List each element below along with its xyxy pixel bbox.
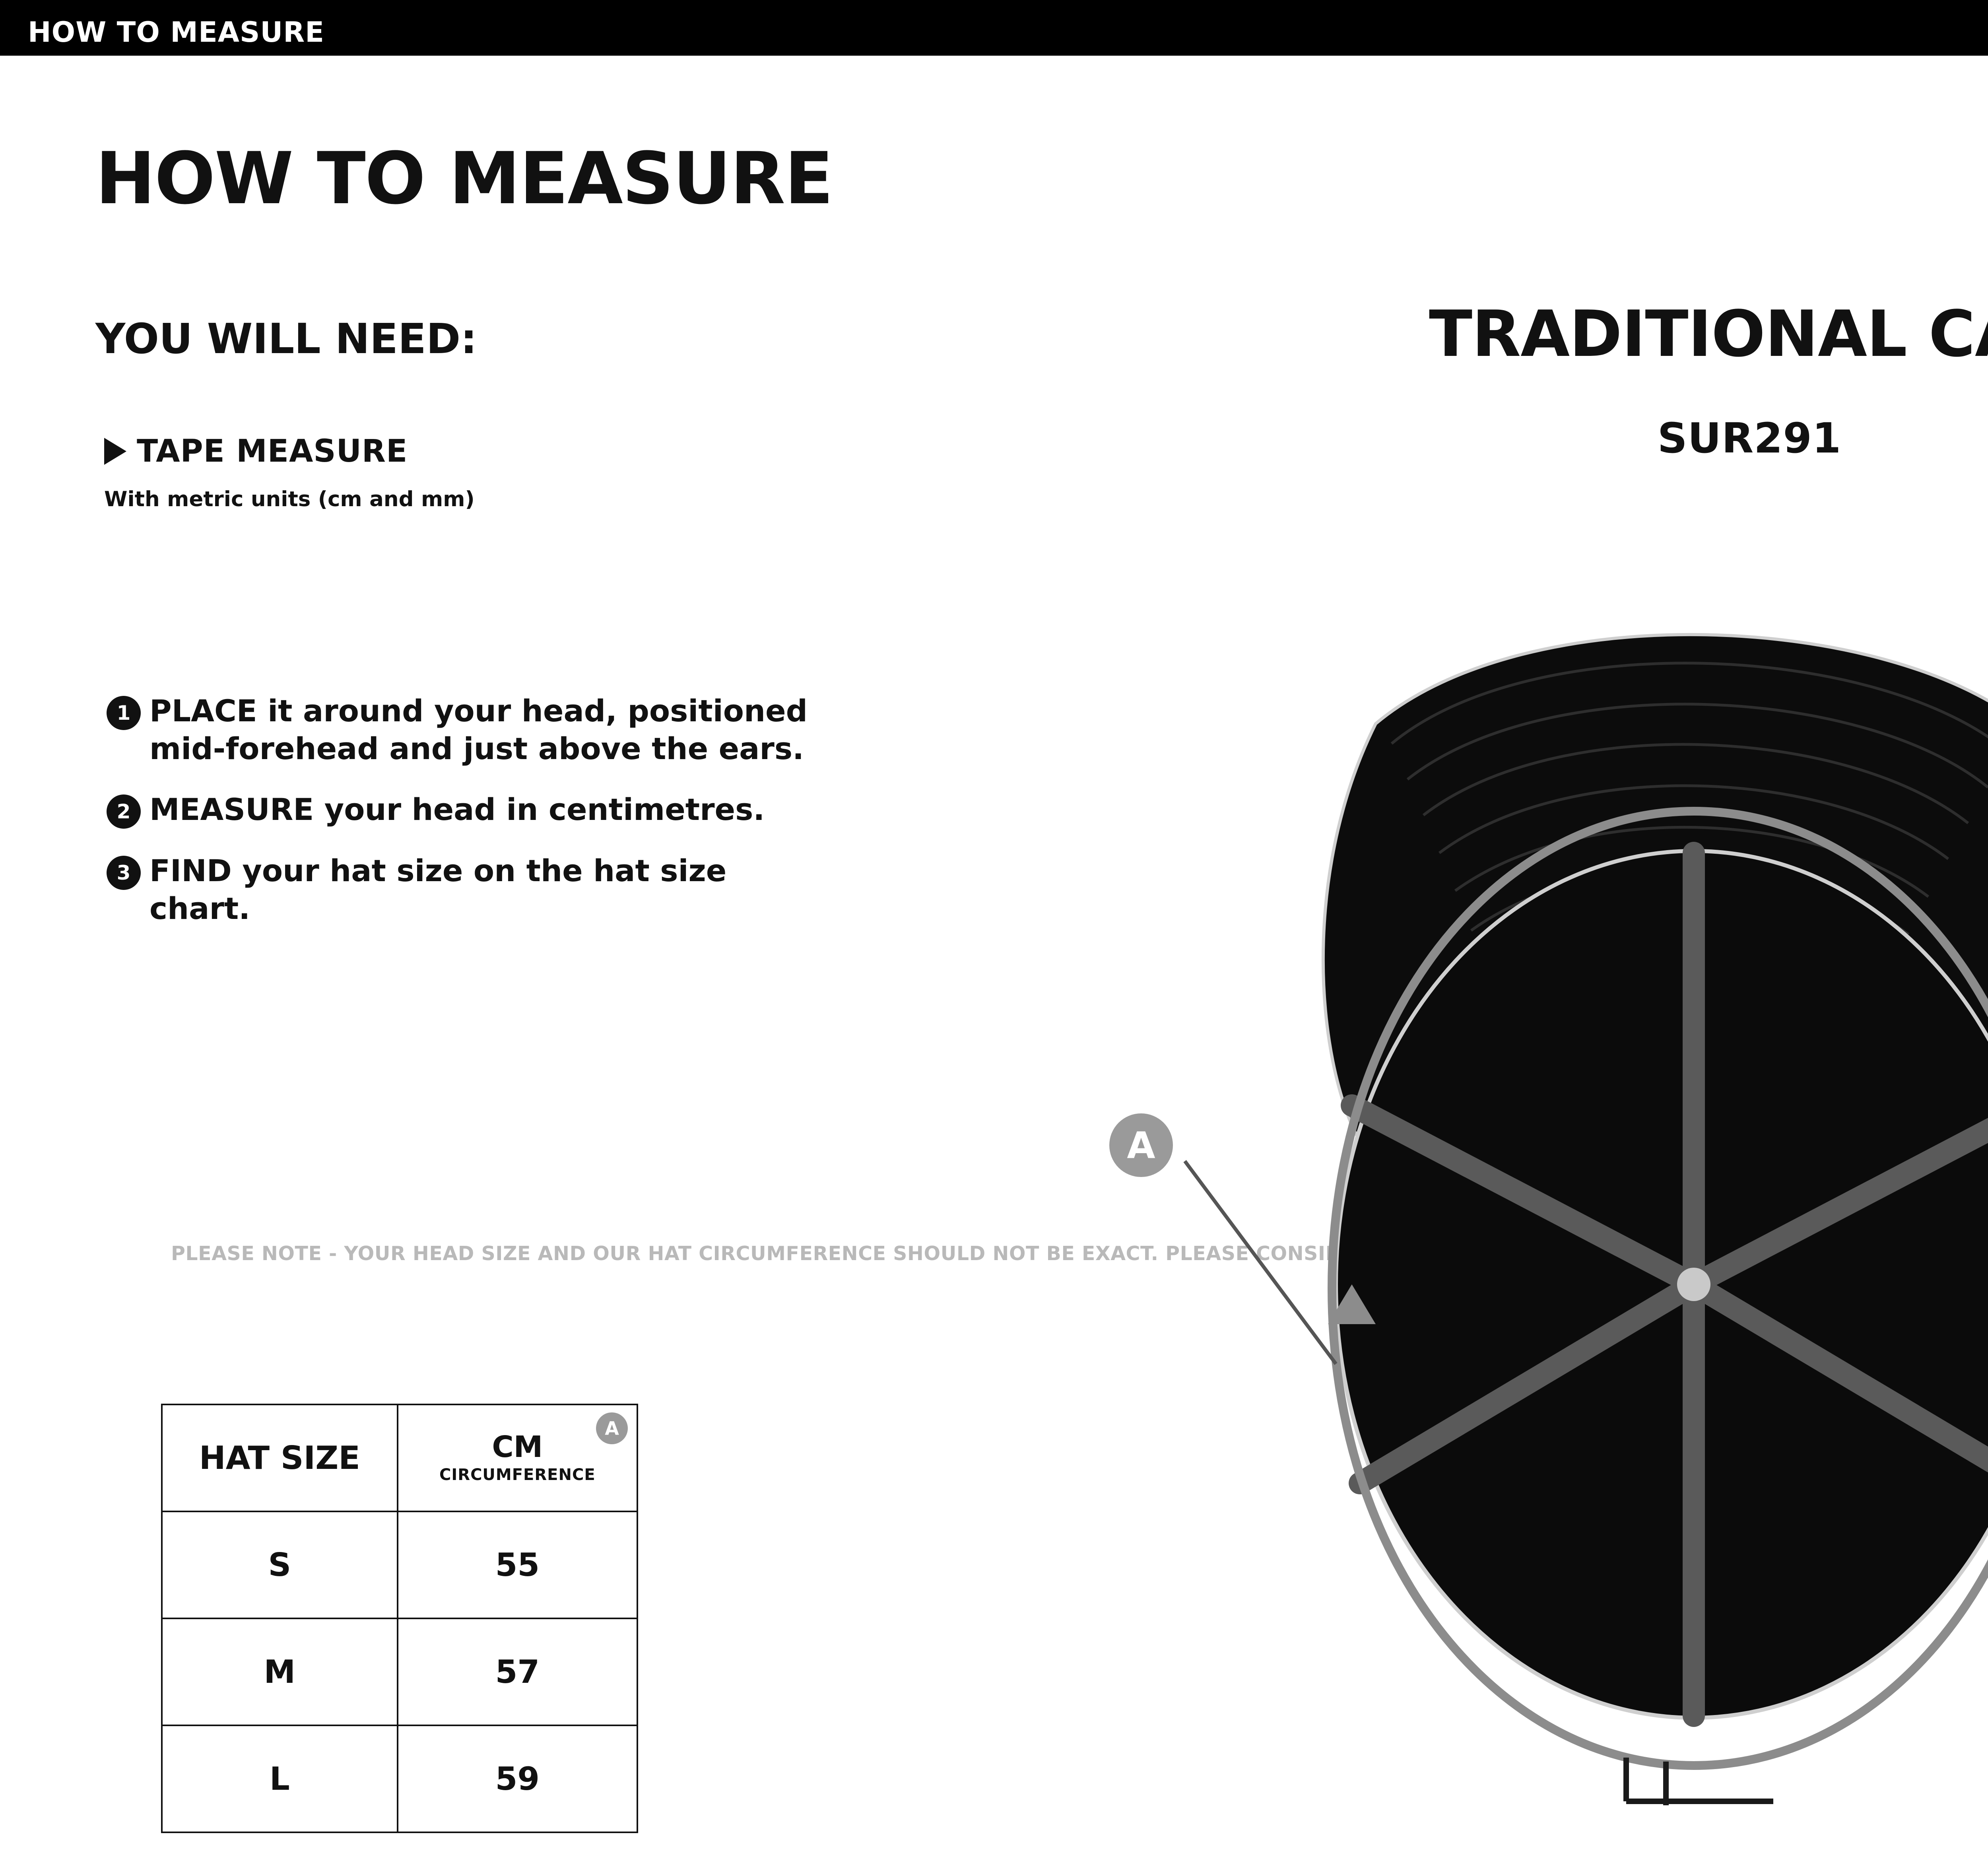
step-lead: FIND xyxy=(149,853,232,888)
cap-diagram-svg xyxy=(1074,557,1988,1849)
top-bar-title: HOW TO MEASURE xyxy=(28,16,324,49)
list-item: 1 PLACE it around your head, positioned … xyxy=(107,692,862,767)
cell-cm: 57 xyxy=(398,1618,637,1725)
table-header-cm: CM CIRCUMFERENCE A xyxy=(398,1404,637,1511)
step-lead: PLACE xyxy=(149,693,257,728)
tape-measure-sublabel: With metric units (cm and mm) xyxy=(104,487,475,511)
top-bar: HOW TO MEASURE SS SURRIDGE xyxy=(0,0,1988,56)
tape-measure-label: TAPE MEASURE xyxy=(137,433,408,469)
measurement-badge-a: A xyxy=(596,1412,628,1444)
step-number-badge: 3 xyxy=(107,856,141,890)
step-text: PLACE it around your head, positioned mi… xyxy=(149,692,833,767)
step-body: your head in centimetres. xyxy=(314,792,765,827)
table-header-row: HAT SIZE CM CIRCUMFERENCE A xyxy=(162,1404,637,1511)
steps-list: 1 PLACE it around your head, positioned … xyxy=(107,692,862,950)
cell-hat-size: M xyxy=(162,1618,398,1725)
tape-measure-row: TAPE MEASURE xyxy=(104,433,408,469)
cell-hat-size: S xyxy=(162,1511,398,1618)
step-text: MEASURE your head in centimetres. xyxy=(149,791,765,829)
table-header-cm-main: CM xyxy=(492,1432,543,1462)
callout-badge-a: A xyxy=(1109,1113,1173,1177)
table-header-cm-sub: CIRCUMFERENCE xyxy=(439,1466,596,1484)
table-row: L 59 xyxy=(162,1725,637,1832)
step-body: your hat size on the hat size chart. xyxy=(149,853,726,926)
page-title: HOW TO MEASURE xyxy=(95,143,833,215)
callout-leader-line xyxy=(1185,1161,1336,1364)
product-code: SUR291 xyxy=(1233,418,1988,459)
cell-hat-size: L xyxy=(162,1725,398,1832)
cell-cm: 59 xyxy=(398,1725,637,1832)
step-number-badge: 2 xyxy=(107,794,141,829)
cell-cm: 55 xyxy=(398,1511,637,1618)
step-text: FIND your hat size on the hat size chart… xyxy=(149,852,833,927)
list-item: 3 FIND your hat size on the hat size cha… xyxy=(107,852,862,927)
list-item: 2 MEASURE your head in centimetres. xyxy=(107,791,862,829)
hat-size-table: HAT SIZE CM CIRCUMFERENCE A S 55 M 57 L … xyxy=(161,1404,638,1833)
step-lead: MEASURE xyxy=(149,792,314,827)
step-number-badge: 1 xyxy=(107,696,141,730)
table-row: S 55 xyxy=(162,1511,637,1618)
product-title: TRADITIONAL CAP xyxy=(1233,302,1988,366)
table-row: M 57 xyxy=(162,1618,637,1725)
cap-illustration xyxy=(1074,557,1988,1849)
table-header-hat-size: HAT SIZE xyxy=(162,1404,398,1511)
you-will-need-heading: YOU WILL NEED: xyxy=(95,318,477,359)
triangle-bullet-icon xyxy=(104,438,126,465)
cap-button xyxy=(1677,1268,1710,1301)
